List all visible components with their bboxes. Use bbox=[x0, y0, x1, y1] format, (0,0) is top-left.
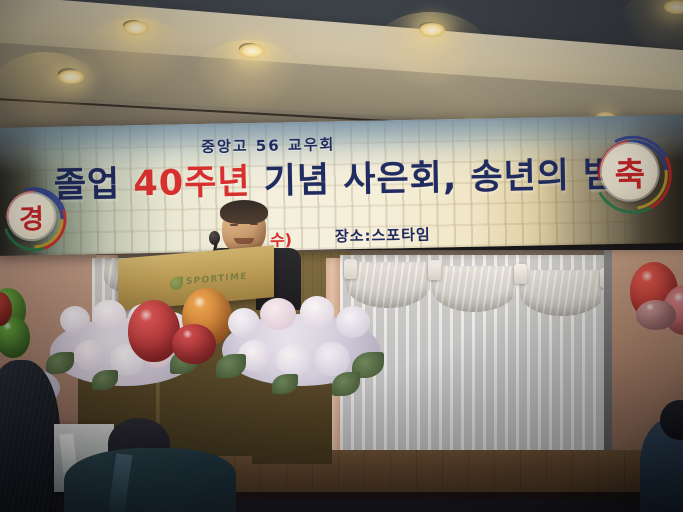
photo-scene: 중앙고 56 교우회 졸업 40주년 기념 사은회, 송년의 밤 수) 장소:스… bbox=[0, 0, 683, 512]
banner-headline-part2: 기념 사은회, 송년의 밤 bbox=[250, 155, 617, 202]
event-banner: 중앙고 56 교우회 졸업 40주년 기념 사은회, 송년의 밤 수) 장소:스… bbox=[0, 115, 683, 256]
banner-place-text: 장소:스포타임 bbox=[335, 224, 431, 247]
flower-petal bbox=[336, 306, 370, 338]
foliage-leaf bbox=[272, 374, 298, 394]
banner-headline: 졸업 40주년 기념 사은회, 송년의 밤 bbox=[53, 146, 616, 208]
flower-petal bbox=[314, 342, 350, 376]
right-door-frame bbox=[604, 250, 612, 456]
foliage-leaf bbox=[332, 372, 360, 396]
audience-shoulders-center bbox=[64, 448, 236, 512]
speaker-mouth bbox=[234, 238, 254, 244]
balloon-red-center-2 bbox=[172, 324, 216, 364]
speaker-hair bbox=[220, 200, 268, 224]
flower-petal bbox=[74, 340, 106, 370]
ceiling-light-3 bbox=[239, 44, 265, 58]
speaker-eye-right bbox=[250, 223, 258, 225]
balloon-pink-right-2 bbox=[636, 300, 676, 330]
ceiling-light-5 bbox=[664, 0, 683, 14]
flower-petal bbox=[228, 308, 260, 338]
flower-petal bbox=[92, 300, 126, 330]
speaker-eye-left bbox=[230, 224, 238, 226]
podium-leaf-icon bbox=[170, 276, 183, 290]
flower-petal bbox=[60, 306, 90, 334]
seal-right-group: 축 bbox=[593, 135, 670, 212]
curtain-swag-2 bbox=[432, 266, 516, 312]
balloon-red-center bbox=[128, 300, 180, 362]
ceiling-light-1 bbox=[58, 70, 84, 84]
microphone-head bbox=[209, 231, 220, 245]
curtain-rosette-0 bbox=[344, 259, 357, 279]
ceiling-light-4 bbox=[419, 23, 445, 37]
foliage-leaf bbox=[216, 354, 246, 378]
banner-headline-part1: 졸업 bbox=[54, 164, 134, 206]
foliage-leaf bbox=[92, 370, 118, 390]
ceiling-light-2 bbox=[123, 21, 149, 35]
curtain-rosette-1 bbox=[428, 260, 441, 280]
flower-petal-pink bbox=[260, 298, 296, 330]
flower-petal bbox=[300, 296, 334, 328]
flower-arrangement-right bbox=[214, 292, 386, 396]
seal-left-group: 경 bbox=[2, 187, 65, 250]
curtain-swag-3 bbox=[520, 270, 604, 316]
curtain-rosette-2 bbox=[514, 264, 527, 284]
podium-logo-text: SPORTIME bbox=[186, 272, 247, 287]
flower-petal bbox=[276, 344, 310, 376]
